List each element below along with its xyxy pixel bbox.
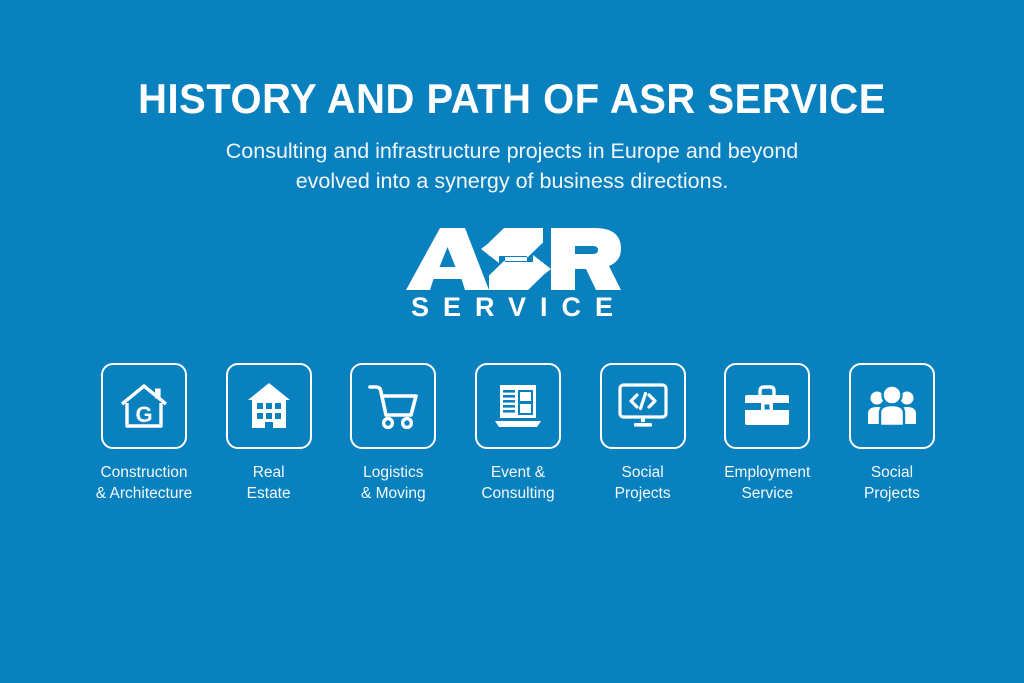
service-label: Employment Service — [724, 463, 810, 504]
service-tile[interactable] — [724, 363, 810, 449]
page-subtitle: Consulting and infrastructure projects i… — [152, 136, 872, 196]
page-subtitle-line-2: evolved into a synergy of business direc… — [152, 166, 872, 196]
service-tile[interactable] — [849, 363, 935, 449]
brand-logo: SERVICE — [0, 228, 1024, 322]
service-tile[interactable] — [475, 363, 561, 449]
service-list: G Construction & Architecture — [88, 363, 948, 504]
house-with-g-icon: G — [118, 381, 170, 431]
service-item-logistics-moving[interactable]: Logistics & Moving — [337, 363, 449, 504]
logo-wordmark: SERVICE — [397, 292, 627, 322]
service-tile[interactable] — [600, 363, 686, 449]
office-building-icon — [493, 383, 543, 429]
header-block: HISTORY AND PATH OF ASR SERVICE Consulti… — [0, 74, 1024, 196]
service-item-event-consulting[interactable]: Event & Consulting — [462, 363, 574, 504]
svg-text:G: G — [135, 402, 152, 427]
code-monitor-icon — [617, 383, 669, 429]
service-label: Real Estate — [247, 463, 291, 504]
service-label: Event & Consulting — [481, 463, 554, 504]
service-tile[interactable] — [226, 363, 312, 449]
service-label: Social Projects — [864, 463, 920, 504]
service-label: Logistics & Moving — [361, 463, 426, 504]
service-tile[interactable] — [350, 363, 436, 449]
page-subtitle-line-1: Consulting and infrastructure projects i… — [152, 136, 872, 166]
service-item-social-projects-code[interactable]: Social Projects — [587, 363, 699, 504]
service-item-real-estate[interactable]: Real Estate — [213, 363, 325, 504]
briefcase-icon — [742, 384, 792, 428]
service-label: Construction & Architecture — [96, 463, 193, 504]
poster-canvas: HISTORY AND PATH OF ASR SERVICE Consulti… — [0, 0, 1024, 683]
service-item-construction-architecture[interactable]: G Construction & Architecture — [88, 363, 200, 504]
shopping-cart-icon — [367, 382, 419, 430]
service-tile[interactable]: G — [101, 363, 187, 449]
asr-arrow-logo-icon — [403, 228, 621, 290]
apartment-building-icon — [245, 381, 293, 431]
page-title: HISTORY AND PATH OF ASR SERVICE — [26, 74, 999, 124]
service-item-social-projects-people[interactable]: Social Projects — [836, 363, 948, 504]
service-label: Social Projects — [615, 463, 671, 504]
people-group-icon — [866, 385, 918, 427]
service-item-employment-service[interactable]: Employment Service — [711, 363, 823, 504]
